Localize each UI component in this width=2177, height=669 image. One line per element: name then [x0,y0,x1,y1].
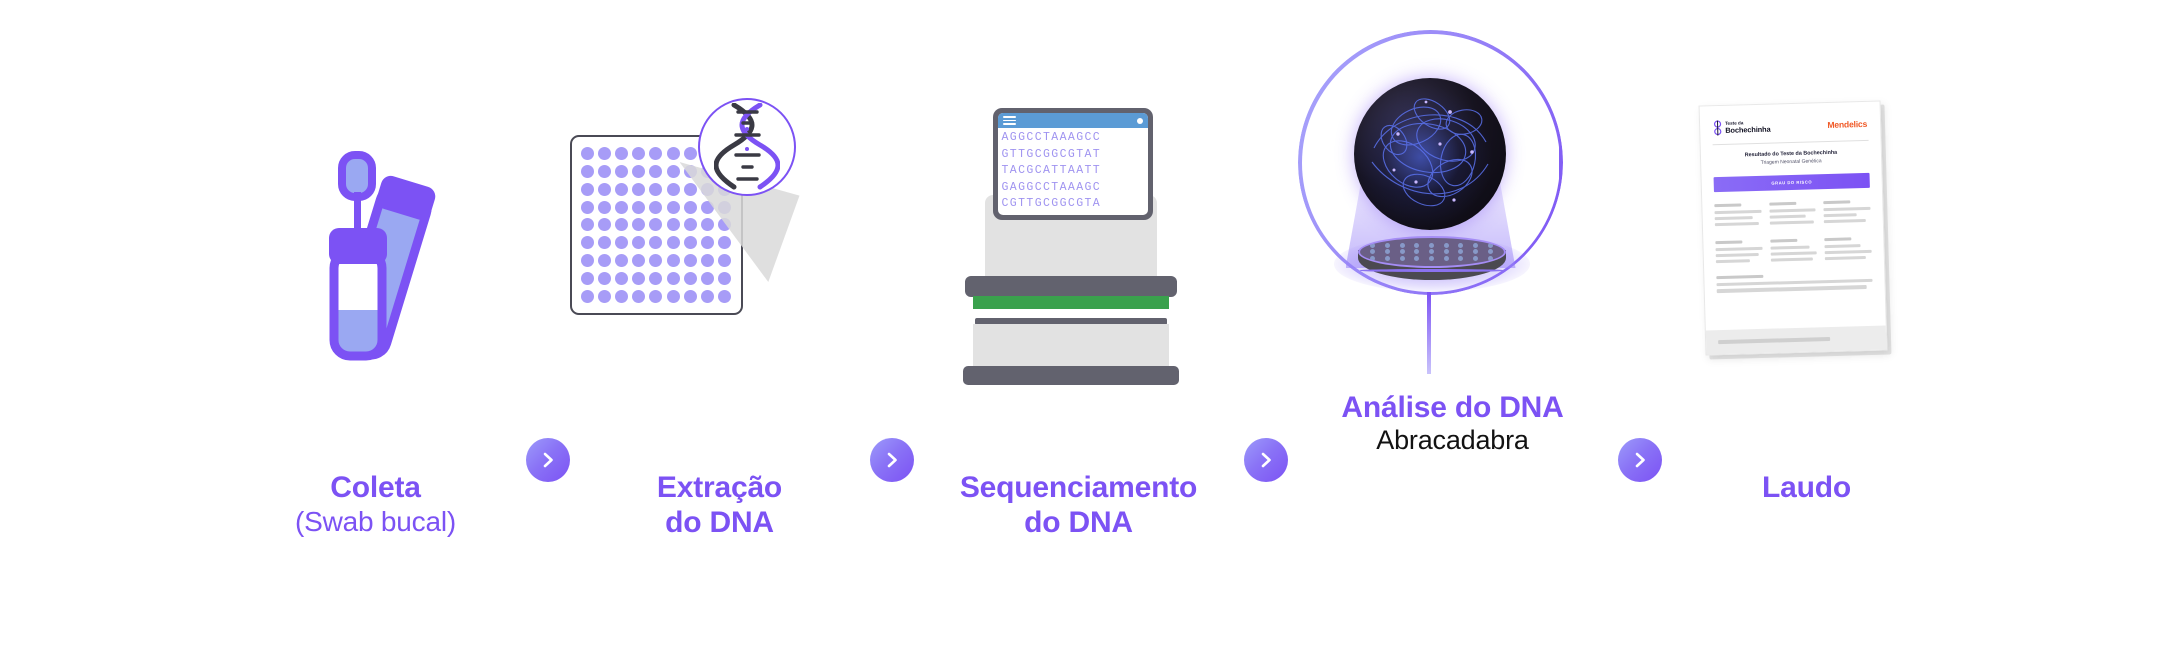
extracao-label: Extração [657,470,782,505]
sequencer-screen: AGGCCTAAAGCC GTTGCGGCGTAT TACGCATTAATT G… [993,108,1153,220]
sequencer-machine-icon: AGGCCTAAAGCC GTTGCGGCGTAT TACGCATTAATT G… [949,90,1209,380]
step-sequenciamento: AGGCCTAAAGCC GTTGCGGCGTAT TACGCATTAATT G… [914,0,1244,669]
report-brand: Mendelics [1827,119,1867,130]
dna-sequence-line: AGGCCTAAAGCC [1002,130,1144,147]
report-sheet: Teste da Bochechinha Mendelics Resultado… [1698,101,1887,356]
report-logo: Teste da Bochechinha [1712,119,1770,137]
chevron-right-icon-4[interactable] [1618,438,1662,482]
report-document-icon: Teste da Bochechinha Mendelics Resultado… [1692,85,1922,385]
coleta-illustration [226,0,526,470]
dna-network-orb [1354,78,1506,230]
extracao-sublabel: do DNA [657,505,782,540]
step-extracao: Extração do DNA [570,0,870,669]
chevron-right-icon-2[interactable] [870,438,914,482]
report-column [1715,240,1762,267]
report-footer-bar [1705,325,1886,354]
swab-tube-icon [301,100,451,370]
bochechinha-logo-icon [1712,120,1721,136]
analise-illustration [1288,0,1618,470]
report-risk-banner-label: GRAU DO RISCO [1771,179,1812,185]
orb-pedestal [1358,236,1506,288]
hamburger-menu-icon [1003,115,1016,127]
extracao-illustration [570,0,870,470]
dna-sequence-line: TACGCATTAATT [1002,163,1144,180]
ai-orb-icon [1288,0,1618,470]
sequencer-green-bar [973,296,1169,309]
chevron-right-icon-3[interactable] [1244,438,1288,482]
sequencer-dark-bar [965,276,1177,297]
report-column [1823,199,1870,226]
report-title-block: Resultado do Teste da Bochechinha Triage… [1700,141,1881,170]
report-column [1769,238,1816,265]
coleta-sublabel: (Swab bucal) [295,505,456,538]
sequenciamento-sublabel: do DNA [960,505,1197,540]
sequenciamento-caption: Sequenciamento do DNA [960,470,1197,541]
coleta-caption: Coleta (Swab bucal) [295,470,456,538]
sequencer-lower-body [973,324,1169,369]
chevron-right-icon-1[interactable] [526,438,570,482]
sequenciamento-label: Sequenciamento [960,470,1197,505]
report-header: Teste da Bochechinha Mendelics [1699,102,1880,145]
report-columns-row-1 [1701,187,1882,229]
coleta-label: Coleta [295,470,456,505]
step-coleta: Coleta (Swab bucal) [226,0,526,669]
report-column [1714,202,1761,229]
sequenciamento-illustration: AGGCCTAAAGCC GTTGCGGCGTAT TACGCATTAATT G… [914,0,1244,470]
magnifier-lens [698,98,796,196]
report-column [1824,237,1871,264]
report-column [1768,201,1815,228]
sequencer-base [963,366,1179,385]
step-analise: Análise do DNA Abracadabra [1288,0,1618,669]
dna-helix-icon [714,103,780,191]
status-dot-icon [1137,118,1143,124]
laudo-illustration: Teste da Bochechinha Mendelics Resultado… [1662,0,1952,470]
analysis-connector-line [1427,292,1431,374]
dna-sequence-line: GTTGCGGCGTAT [1002,147,1144,164]
report-footer-text-block [1704,262,1885,296]
extracao-caption: Extração do DNA [657,470,782,541]
dna-sequence-line: CGTTGCGGCGTA [1002,196,1144,213]
microplate-magnifier-dna-icon [570,90,870,380]
dna-sequence-line: GAGGCCTAAAGC [1002,180,1144,197]
report-logo-line2: Bochechinha [1725,125,1771,134]
laudo-caption: Laudo [1762,470,1851,505]
screen-titlebar [998,113,1148,128]
laudo-label: Laudo [1762,470,1851,505]
dna-sequence-readout: AGGCCTAAAGCC GTTGCGGCGTAT TACGCATTAATT G… [998,128,1148,215]
process-flow-diagram: Coleta (Swab bucal) [0,0,2177,669]
step-laudo: Teste da Bochechinha Mendelics Resultado… [1662,0,1952,669]
report-columns-row-2 [1703,224,1884,266]
